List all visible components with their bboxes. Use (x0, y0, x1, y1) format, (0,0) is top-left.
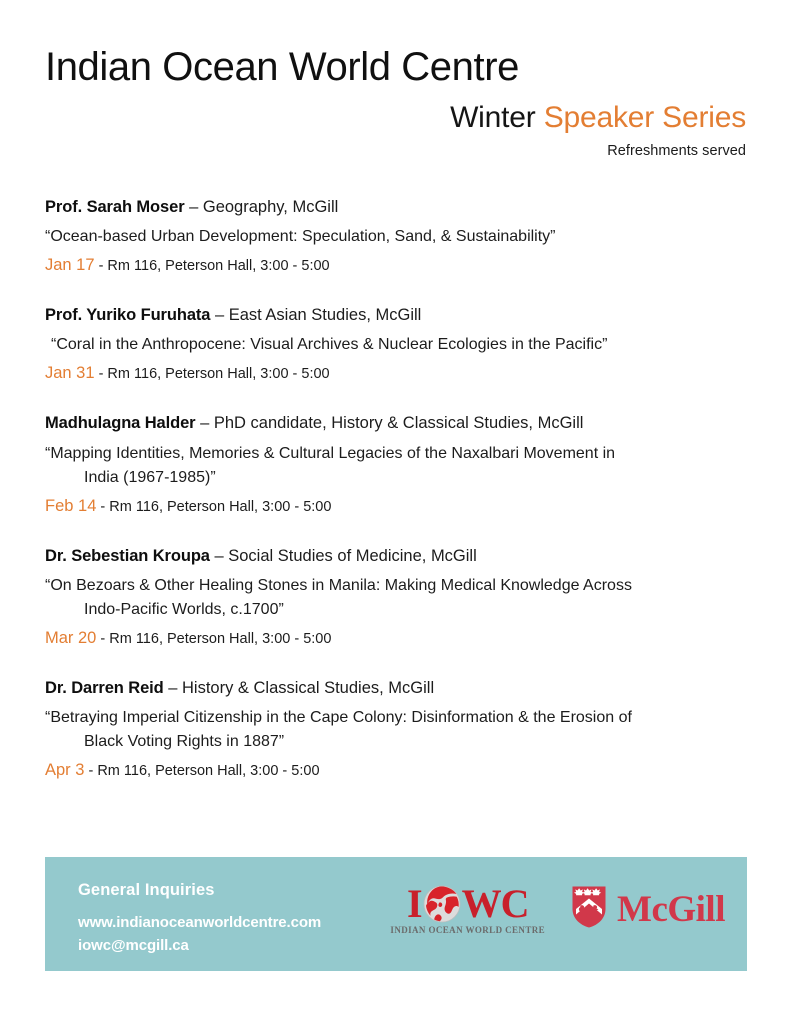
speaker-affiliation: Social Studies of Medicine, McGill (228, 547, 477, 565)
contact-block: General Inquiries www.indianoceanworldce… (78, 881, 321, 957)
speaker-separator: – (196, 414, 214, 432)
globe-icon (423, 885, 461, 923)
speaker-separator: – (185, 198, 203, 216)
series-name-label: Speaker Series (544, 101, 746, 134)
iowc-subtitle: INDIAN OCEAN WORLD CENTRE (390, 925, 545, 935)
talk-date: Mar 20 (45, 629, 96, 647)
speaker-name: Dr. Sebestian Kroupa (45, 547, 210, 565)
iowc-letter-i: I (407, 884, 422, 924)
speaker-affiliation: PhD candidate, History & Classical Studi… (214, 414, 584, 432)
talk-schedule: Mar 20 - Rm 116, Peterson Hall, 3:00 - 5… (45, 627, 751, 650)
talk-location-time: - Rm 116, Peterson Hall, 3:00 - 5:00 (95, 258, 330, 274)
contact-heading: General Inquiries (78, 881, 321, 900)
talk-entry: Madhulagna Halder – PhD candidate, Histo… (45, 412, 751, 517)
organization-title: Indian Ocean World Centre (45, 46, 746, 89)
speaker-name: Madhulagna Halder (45, 414, 196, 432)
logo-group: I WC INDIAN OCEAN WO (390, 884, 725, 935)
talk-date: Jan 17 (45, 256, 95, 274)
mcgill-logo: McGill (571, 885, 725, 934)
talk-title: “On Bezoars & Other Healing Stones in Ma… (45, 574, 751, 622)
poster-page: Indian Ocean World Centre Winter Speaker… (0, 0, 791, 1023)
talk-title-line-1: “Coral in the Anthropocene: Visual Archi… (51, 336, 607, 353)
talk-title: “Ocean-based Urban Development: Speculat… (45, 225, 751, 249)
speaker-line: Dr. Darren Reid – History & Classical St… (45, 677, 751, 699)
talk-title-line-2: India (1967-1985)” (45, 466, 751, 490)
speaker-line: Madhulagna Halder – PhD candidate, Histo… (45, 412, 751, 434)
speaker-affiliation: Geography, McGill (203, 198, 338, 216)
iowc-wordmark: I WC (407, 884, 528, 924)
talk-title-line-2: Black Voting Rights in 1887” (45, 730, 751, 754)
talk-location-time: - Rm 116, Peterson Hall, 3:00 - 5:00 (95, 366, 330, 382)
talk-location-time: - Rm 116, Peterson Hall, 3:00 - 5:00 (96, 499, 331, 515)
talk-entry: Dr. Darren Reid – History & Classical St… (45, 677, 751, 782)
speaker-line: Dr. Sebestian Kroupa – Social Studies of… (45, 545, 751, 567)
talk-schedule: Jan 31 - Rm 116, Peterson Hall, 3:00 - 5… (45, 362, 751, 385)
speaker-name: Dr. Darren Reid (45, 679, 164, 697)
speaker-affiliation: History & Classical Studies, McGill (182, 679, 434, 697)
talk-schedule: Apr 3 - Rm 116, Peterson Hall, 3:00 - 5:… (45, 759, 751, 782)
mcgill-shield-icon (571, 885, 607, 934)
poster-header: Indian Ocean World Centre Winter Speaker… (45, 46, 746, 159)
contact-email[interactable]: iowc@mcgill.ca (78, 935, 321, 958)
talk-title-line-2: Indo-Pacific Worlds, c.1700” (45, 598, 751, 622)
footer-band: General Inquiries www.indianoceanworldce… (45, 857, 747, 971)
talk-schedule: Feb 14 - Rm 116, Peterson Hall, 3:00 - 5… (45, 495, 751, 518)
speaker-affiliation: East Asian Studies, McGill (229, 306, 422, 324)
speaker-separator: – (164, 679, 182, 697)
mcgill-wordmark: McGill (617, 891, 725, 928)
talk-title-line-1: “Mapping Identities, Memories & Cultural… (45, 445, 615, 462)
speaker-line: Prof. Sarah Moser – Geography, McGill (45, 196, 751, 218)
contact-website[interactable]: www.indianoceanworldcentre.com (78, 912, 321, 935)
talk-location-time: - Rm 116, Peterson Hall, 3:00 - 5:00 (96, 631, 331, 647)
speaker-line: Prof. Yuriko Furuhata – East Asian Studi… (45, 304, 751, 326)
iowc-logo: I WC INDIAN OCEAN WO (390, 884, 545, 935)
speaker-name: Prof. Sarah Moser (45, 198, 185, 216)
talk-date: Jan 31 (45, 364, 95, 382)
talk-date: Feb 14 (45, 497, 96, 515)
talk-entry: Dr. Sebestian Kroupa – Social Studies of… (45, 545, 751, 650)
talk-entry: Prof. Sarah Moser – Geography, McGill “O… (45, 196, 751, 277)
talk-title-line-1: “Betraying Imperial Citizenship in the C… (45, 709, 632, 726)
talk-date: Apr 3 (45, 761, 84, 779)
talk-title: “Mapping Identities, Memories & Cultural… (45, 442, 751, 490)
speaker-name: Prof. Yuriko Furuhata (45, 306, 210, 324)
talk-title: “Betraying Imperial Citizenship in the C… (45, 706, 751, 754)
talk-title: “Coral in the Anthropocene: Visual Archi… (45, 333, 751, 357)
series-season-label: Winter (450, 101, 544, 134)
talk-schedule: Jan 17 - Rm 116, Peterson Hall, 3:00 - 5… (45, 254, 751, 277)
speaker-separator: – (210, 547, 228, 565)
talk-entry: Prof. Yuriko Furuhata – East Asian Studi… (45, 304, 751, 385)
talk-title-line-1: “On Bezoars & Other Healing Stones in Ma… (45, 577, 632, 594)
refreshments-note: Refreshments served (45, 143, 746, 159)
iowc-letters-wc: WC (462, 884, 529, 924)
talk-list: Prof. Sarah Moser – Geography, McGill “O… (45, 196, 751, 782)
series-title: Winter Speaker Series (45, 101, 746, 135)
talk-title-line-1: “Ocean-based Urban Development: Speculat… (45, 228, 556, 245)
talk-location-time: - Rm 116, Peterson Hall, 3:00 - 5:00 (84, 763, 319, 779)
speaker-separator: – (210, 306, 228, 324)
